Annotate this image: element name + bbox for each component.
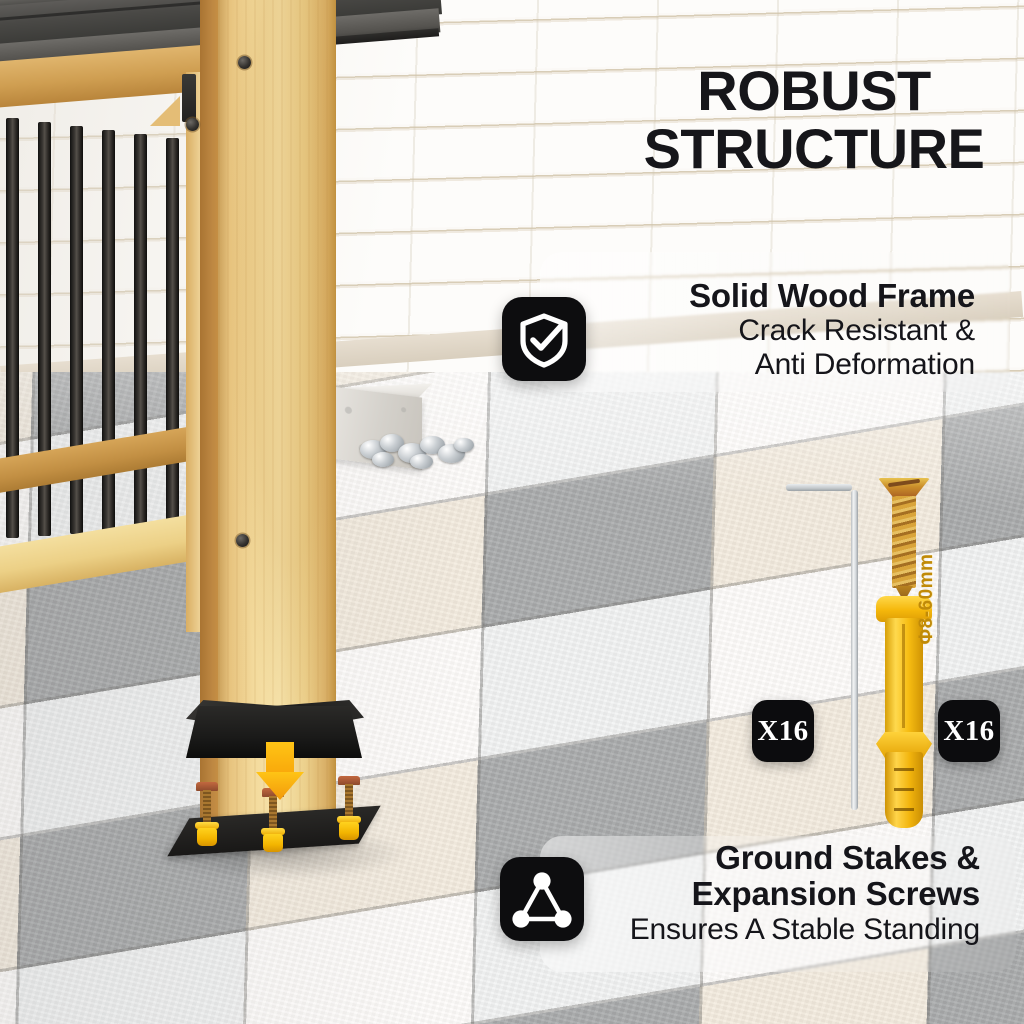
ground-stake-shaft <box>851 490 858 810</box>
status-badge-ground-stake-quantity: X16 <box>752 700 814 762</box>
baluster <box>134 134 147 530</box>
bolt-icon <box>236 534 249 547</box>
page-title: ROBUST STRUCTURE <box>604 62 1024 177</box>
feature-1-subtitle-line-1: Crack Resistant & <box>575 314 975 348</box>
pebble-cluster <box>358 430 478 468</box>
nylon-anchor <box>876 596 932 806</box>
shield-check-icon <box>502 297 586 381</box>
bolt-icon <box>238 56 251 69</box>
feature-1-title: Solid Wood Frame <box>575 278 975 314</box>
screw-thread <box>892 496 916 588</box>
feature-1-subtitle-line-2: Anti Deformation <box>575 348 975 382</box>
headline-line-1: ROBUST <box>697 59 930 122</box>
anchor-slit <box>902 624 905 728</box>
headline-line-2: STRUCTURE <box>604 120 1024 178</box>
expansion-screw <box>866 478 942 818</box>
assembly-direction-arrow <box>256 742 304 800</box>
product-feature-image: Φ8-60mm ROBUST STRUCTURE Solid Wood Fram… <box>0 0 1024 1024</box>
status-badge-expansion-screw-quantity: X16 <box>938 700 1000 762</box>
roof-bracket <box>182 74 196 122</box>
baluster <box>166 138 179 528</box>
ground-stake-hook <box>786 484 852 491</box>
feature-2-subtitle: Ensures A Stable Standing <box>560 913 980 947</box>
feature-2-title-line-1: Ground Stakes & <box>560 840 980 876</box>
bolt-icon <box>186 118 199 131</box>
feature-2-title-line-2: Expansion Screws <box>560 876 980 912</box>
